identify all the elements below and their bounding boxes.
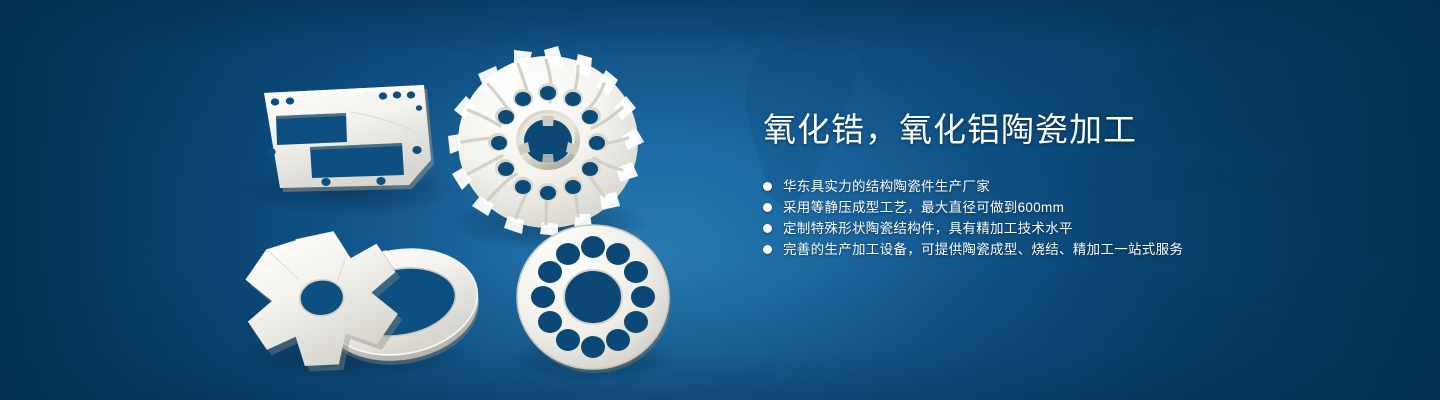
banner-text-block: 氧化锆，氧化铝陶瓷加工 华东具实力的结构陶瓷件生产厂家 采用等静压成型工艺，最大… <box>763 108 1383 260</box>
feature-list-item: 完善的生产加工设备，可提供陶瓷成型、烧结、精加工一站式服务 <box>763 239 1383 260</box>
feature-text: 完善的生产加工设备，可提供陶瓷成型、烧结、精加工一站式服务 <box>783 239 1183 260</box>
feature-text: 华东具实力的结构陶瓷件生产厂家 <box>783 176 990 197</box>
ceramic-plate <box>264 85 434 192</box>
bullet-dot-icon <box>763 182 772 191</box>
feature-text: 定制特殊形状陶瓷结构件，具有精加工技术水平 <box>783 218 1073 239</box>
feature-list-item: 采用等静压成型工艺，最大直径可做到600mm <box>763 197 1383 218</box>
feature-text: 采用等静压成型工艺，最大直径可做到600mm <box>783 197 1064 218</box>
banner-headline: 氧化锆，氧化铝陶瓷加工 <box>763 108 1383 152</box>
feature-list-item: 华东具实力的结构陶瓷件生产厂家 <box>763 176 1383 197</box>
bullet-dot-icon <box>763 224 772 233</box>
bullet-dot-icon <box>763 203 772 212</box>
feature-list: 华东具实力的结构陶瓷件生产厂家 采用等静压成型工艺，最大直径可做到600mm 定… <box>763 176 1383 260</box>
ceramic-products-photo <box>0 0 720 400</box>
promotional-banner: 氧化锆，氧化铝陶瓷加工 华东具实力的结构陶瓷件生产厂家 采用等静压成型工艺，最大… <box>0 0 1440 400</box>
bullet-dot-icon <box>763 245 772 254</box>
feature-list-item: 定制特殊形状陶瓷结构件，具有精加工技术水平 <box>763 218 1383 239</box>
